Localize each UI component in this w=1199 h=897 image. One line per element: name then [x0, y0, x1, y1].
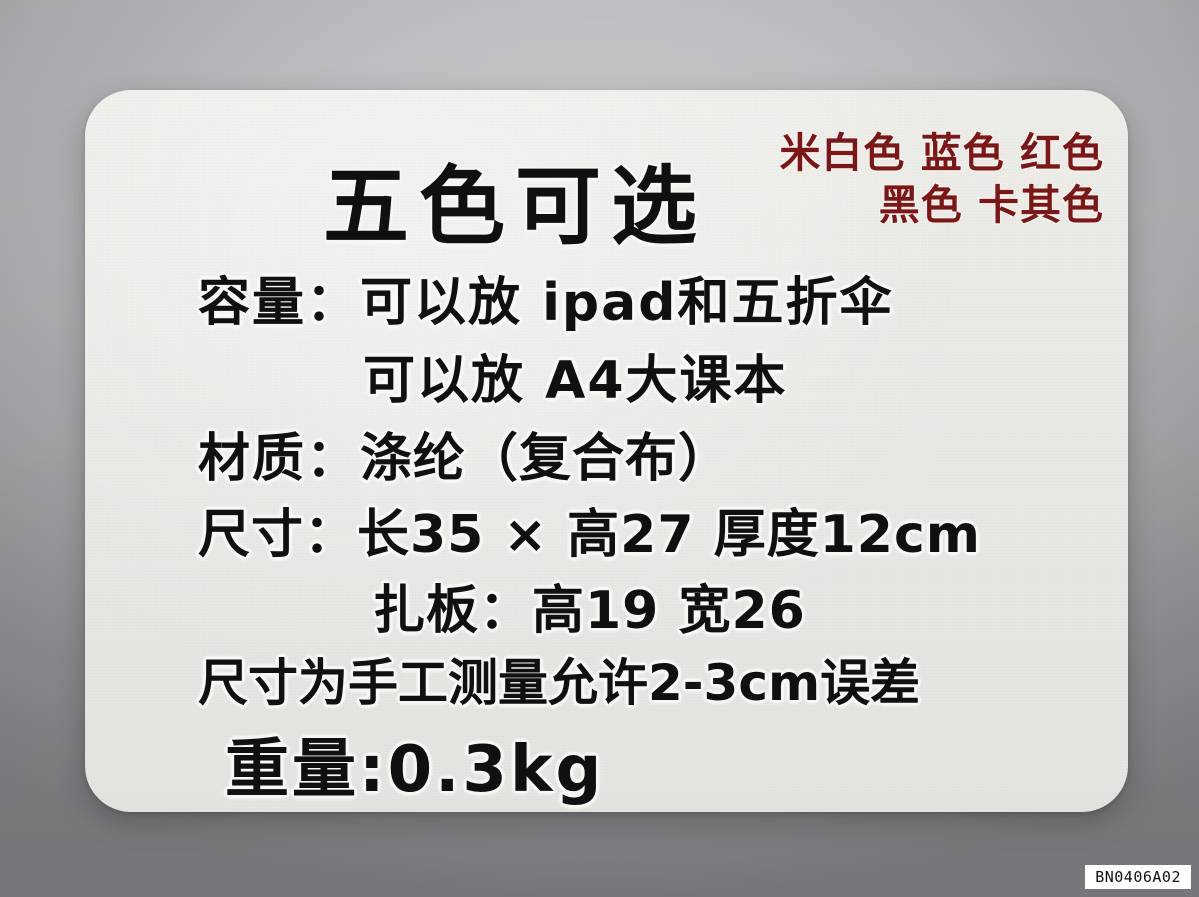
- sku-code-label: BN0406A02: [1085, 865, 1191, 889]
- spec-card-content: 五色可选 米白色 蓝色 红色 黑色 卡其色 容量：可以放 ipad和五折伞 可以…: [85, 90, 1128, 812]
- poster-canvas: 五色可选 米白色 蓝色 红色 黑色 卡其色 容量：可以放 ipad和五折伞 可以…: [0, 0, 1199, 897]
- spec-card: 五色可选 米白色 蓝色 红色 黑色 卡其色 容量：可以放 ipad和五折伞 可以…: [85, 90, 1128, 812]
- spec-material-value: 涤纶（复合布）: [360, 428, 731, 489]
- spec-capacity-line-1: 容量：可以放 ipad和五折伞: [198, 260, 893, 335]
- spec-weight-line: 重量:0.3kg: [225, 718, 604, 810]
- color-options-row-1: 米白色 蓝色 红色: [779, 128, 1104, 180]
- spec-size-line: 尺寸：长35 × 高27 厚度12cm: [198, 492, 981, 567]
- color-options-list: 米白色 蓝色 红色 黑色 卡其色: [779, 128, 1104, 231]
- spec-material-label: 材质：: [198, 429, 360, 489]
- spec-tolerance-line: 尺寸为手工测量允许2-3cm误差: [198, 643, 920, 715]
- spec-board-line: 扎板：高19 宽26: [373, 568, 806, 643]
- color-options-row-2: 黑色 卡其色: [779, 180, 1104, 232]
- spec-capacity-line-2: 可以放 A4大课本: [363, 338, 788, 413]
- page-title: 五色可选: [323, 136, 707, 261]
- spec-material-line: 材质：涤纶（复合布）: [198, 416, 731, 491]
